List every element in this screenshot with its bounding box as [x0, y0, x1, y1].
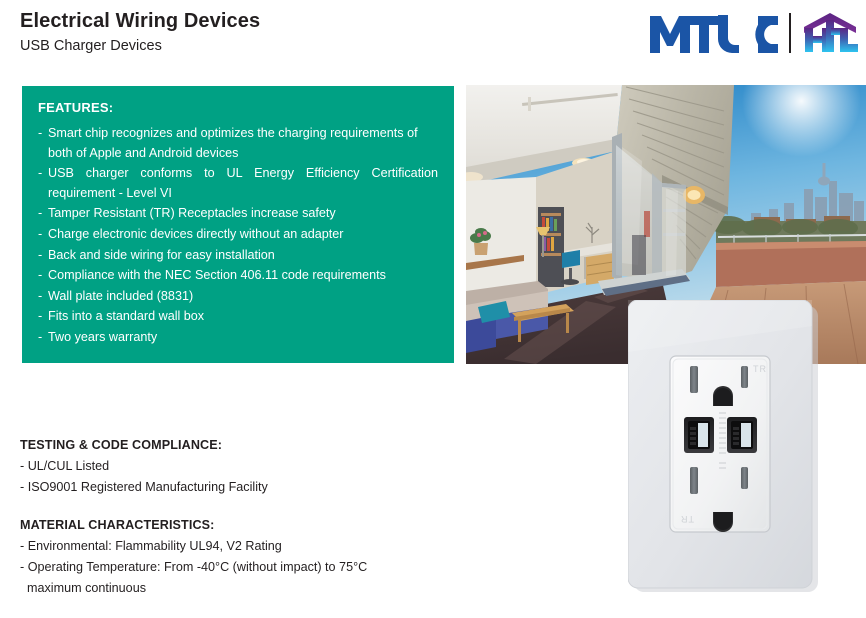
- usb-receptacle-illustration: TR TR: [628, 300, 818, 592]
- testing-item: - ISO9001 Registered Manufacturing Facil…: [20, 479, 268, 496]
- feature-text: Back and side wiring for easy installati…: [48, 248, 275, 262]
- material-item-continuation: maximum continuous: [20, 580, 367, 597]
- testing-item: - UL/CUL Listed: [20, 458, 268, 475]
- usb-port-right: [727, 417, 757, 453]
- feature-text: Compliance with the NEC Section 406.11 c…: [48, 268, 386, 282]
- material-characteristics-block: MATERIAL CHARACTERISTICS: - Environmenta…: [20, 518, 367, 601]
- bullet-dash: -: [38, 287, 42, 307]
- feature-text: Tamper Resistant (TR) Receptacles increa…: [48, 206, 336, 220]
- features-list: -Smart chip recognizes and optimizes the…: [38, 124, 438, 348]
- feature-item: -Charge electronic devices directly with…: [38, 225, 438, 245]
- bullet-dash: -: [38, 328, 42, 348]
- wall-lamp-icon: [683, 186, 705, 204]
- feature-item: -Smart chip recognizes and optimizes the…: [38, 124, 438, 163]
- bullet-dash: -: [38, 164, 42, 184]
- page-subtitle: USB Charger Devices: [20, 38, 162, 54]
- bullet-dash: -: [38, 124, 42, 144]
- material-item: - Operating Temperature: From -40°C (wit…: [20, 559, 367, 576]
- feature-text: Smart chip recognizes and optimizes the …: [48, 126, 418, 160]
- feature-item: -Wall plate included (8831): [38, 287, 438, 307]
- usb-port-left: [684, 417, 714, 453]
- page-title: Electrical Wiring Devices: [20, 10, 260, 33]
- material-item: - Environmental: Flammability UL94, V2 R…: [20, 538, 367, 555]
- testing-heading: TESTING & CODE COMPLIANCE:: [20, 438, 268, 452]
- bullet-dash: -: [38, 246, 42, 266]
- feature-text: Fits into a standard wall box: [48, 309, 204, 323]
- bullet-dash: -: [38, 266, 42, 286]
- feature-text: Charge electronic devices directly witho…: [48, 227, 343, 241]
- brand-logo: [648, 6, 860, 56]
- feature-item: -USB charger conforms to UL Energy Effic…: [38, 164, 438, 203]
- feature-text: Two years warranty: [48, 330, 157, 344]
- feature-item: -Compliance with the NEC Section 406.11 …: [38, 266, 438, 286]
- bullet-dash: -: [38, 225, 42, 245]
- feature-item: -Back and side wiring for easy installat…: [38, 246, 438, 266]
- feature-text: Wall plate included (8831): [48, 289, 193, 303]
- feature-item: -Fits into a standard wall box: [38, 307, 438, 327]
- feature-text: USB charger conforms to UL Energy Effici…: [48, 166, 438, 200]
- features-heading: FEATURES:: [38, 100, 438, 115]
- bullet-dash: -: [38, 204, 42, 224]
- brand-logo-icon: [648, 6, 860, 56]
- features-panel: FEATURES: -Smart chip recognizes and opt…: [22, 86, 454, 363]
- feature-item: -Tamper Resistant (TR) Receptacles incre…: [38, 204, 438, 224]
- testing-code-compliance-block: TESTING & CODE COMPLIANCE: - UL/CUL List…: [20, 438, 268, 500]
- tr-marking-bottom: TR: [680, 514, 694, 524]
- material-heading: MATERIAL CHARACTERISTICS:: [20, 518, 367, 532]
- logo-divider: [789, 13, 791, 53]
- product-image-usb-receptacle: TR TR: [628, 300, 818, 592]
- product-sheet-page: Electrical Wiring Devices USB Charger De…: [0, 0, 866, 618]
- tr-marking-top: TR: [753, 364, 767, 374]
- feature-item: -Two years warranty: [38, 328, 438, 348]
- bullet-dash: -: [38, 307, 42, 327]
